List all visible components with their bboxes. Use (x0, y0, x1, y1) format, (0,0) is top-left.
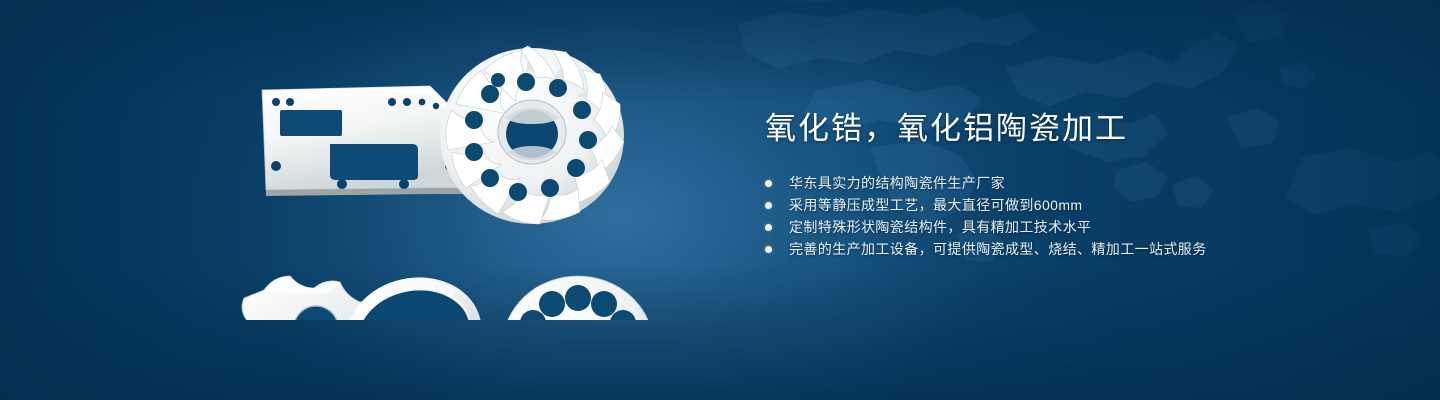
hero-banner: 氧化锆，氧化铝陶瓷加工 华东具实力的结构陶瓷件生产厂家 采用等静压成型工艺，最大… (0, 0, 1440, 400)
feature-text: 定制特殊形状陶瓷结构件，具有精加工技术水平 (789, 219, 1091, 235)
bullet-dot-icon (765, 246, 772, 253)
ceramic-impeller-part (440, 46, 624, 224)
list-item: 完善的生产加工设备，可提供陶瓷成型、烧结、精加工一站式服务 (765, 238, 1405, 260)
ceramic-plate-part (262, 86, 470, 196)
feature-text: 采用等静压成型工艺，最大直径可做到600mm (789, 197, 1082, 213)
banner-headline: 氧化锆，氧化铝陶瓷加工 (765, 108, 1405, 150)
feature-text: 华东具实力的结构陶瓷件生产厂家 (789, 175, 1005, 191)
ceramic-cross-part (242, 276, 382, 387)
list-item: 采用等静压成型工艺，最大直径可做到600mm (765, 194, 1405, 216)
feature-text: 完善的生产加工设备，可提供陶瓷成型、烧结、精加工一站式服务 (789, 241, 1207, 257)
list-item: 定制特殊形状陶瓷结构件，具有精加工技术水平 (765, 216, 1405, 238)
product-photo-group (232, 48, 702, 378)
bullet-dot-icon (765, 202, 772, 209)
list-item: 华东具实力的结构陶瓷件生产厂家 (765, 172, 1405, 194)
bullet-dot-icon (765, 180, 772, 187)
feature-list: 华东具实力的结构陶瓷件生产厂家 采用等静压成型工艺，最大直径可做到600mm 定… (765, 172, 1405, 260)
banner-copy: 氧化锆，氧化铝陶瓷加工 华东具实力的结构陶瓷件生产厂家 采用等静压成型工艺，最大… (765, 108, 1405, 260)
bullet-dot-icon (765, 224, 772, 231)
